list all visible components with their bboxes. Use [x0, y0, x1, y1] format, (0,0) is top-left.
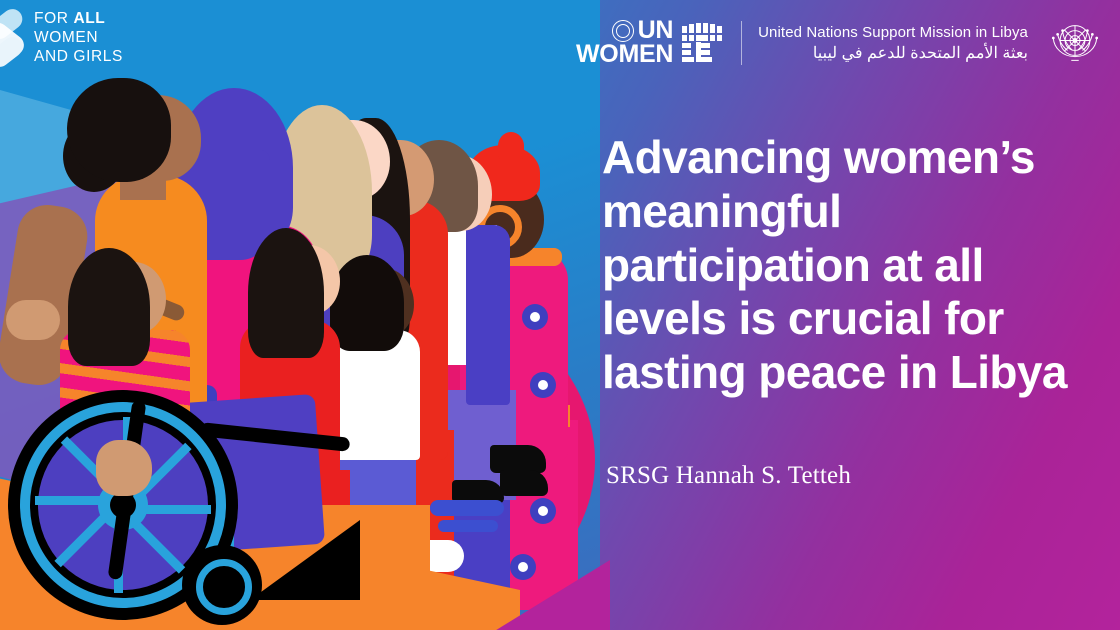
for-all-women-and-girls-logo: FOR ALL WOMEN AND GIRLS	[0, 10, 123, 67]
figure-woman-afro-hair	[67, 78, 171, 182]
wheelchair-caster-wheel	[182, 545, 262, 625]
header-logo-lockup: UN WOMEN United Nations Support Mission …	[576, 12, 1106, 74]
campaign-line2: WOMEN	[34, 29, 123, 48]
un-women-logo: UN WOMEN	[576, 19, 725, 67]
figure-girl-hair	[248, 228, 324, 358]
figure-sandal	[438, 520, 498, 532]
figure-child-hair	[330, 255, 404, 351]
figure-wheelchair-hand	[96, 440, 152, 496]
campaign-line3: AND GIRLS	[34, 48, 123, 67]
un-women-emblem-icon	[679, 20, 725, 66]
ribbon-mark-icon	[0, 12, 22, 64]
campaign-line1-bold: ALL	[73, 10, 105, 27]
lockup-divider	[741, 21, 742, 65]
figure-wheelchair-left-arm	[6, 300, 60, 340]
un-women-line2: WOMEN	[576, 43, 673, 67]
unsmil-name-arabic: بعثة الأمم المتحدة للدعم في ليبيا	[758, 43, 1028, 63]
attribution-label: SRSG Hannah S. Tetteh	[606, 462, 851, 490]
figure-woman-headwrap-knot	[498, 132, 524, 160]
campaign-line1-prefix: FOR	[34, 10, 73, 27]
unsmil-name-english: United Nations Support Mission in Libya	[758, 24, 1028, 41]
unsmil-mission-name: United Nations Support Mission in Libya …	[758, 24, 1028, 63]
figure-wheelchair-hair	[68, 248, 150, 366]
figure-shoe	[500, 470, 548, 496]
figure-woman-blazer-right-panel	[466, 225, 510, 405]
united-nations-emblem-icon	[1044, 12, 1106, 74]
page-title: Advancing women’s meaningful participati…	[602, 131, 1082, 400]
figure-sandal	[430, 500, 504, 516]
un-women-wordmark: UN WOMEN	[576, 19, 673, 67]
un-seal-icon	[612, 20, 634, 42]
figure-shoe	[490, 445, 546, 473]
campaign-logo-text: FOR ALL WOMEN AND GIRLS	[34, 10, 123, 67]
poster-canvas: FOR ALL WOMEN AND GIRLS UN WOMEN	[0, 0, 1120, 630]
